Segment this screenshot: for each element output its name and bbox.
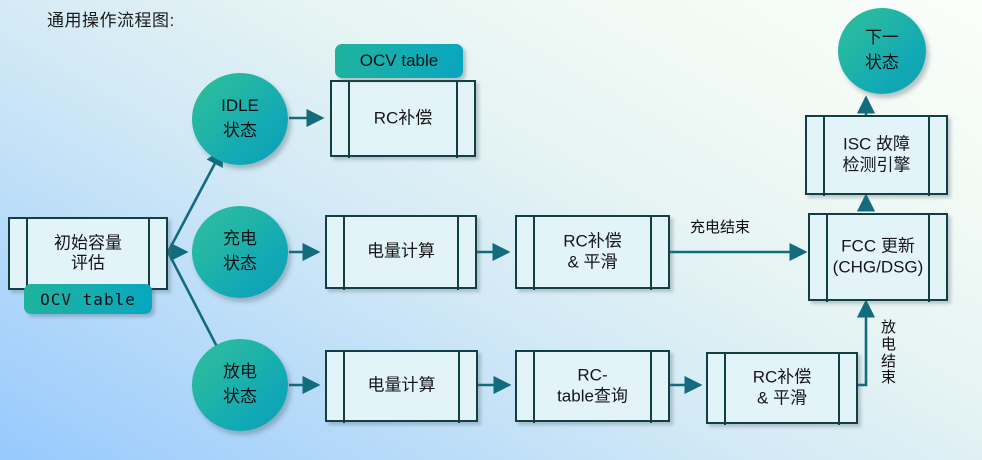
page-title: 通用操作流程图: — [47, 6, 175, 31]
node-initial-capacity-label: 初始容量 评估 — [30, 233, 146, 274]
badge-initial-ocv-table-label: OCV table — [40, 290, 136, 309]
node-idle-state[interactable]: IDLE 状态 — [192, 73, 288, 165]
node-charge-capacity-calc[interactable]: 电量计算 — [325, 215, 477, 289]
node-discharge-capacity-calc[interactable]: 电量计算 — [325, 350, 478, 422]
badge-idle-ocv-table[interactable]: OCV table — [335, 44, 463, 78]
node-charge-rc-smooth[interactable]: RC补偿 & 平滑 — [515, 215, 670, 289]
node-idle-rc-compensation-label: RC补偿 — [352, 108, 454, 129]
node-charge-state[interactable]: 充电 状态 — [192, 206, 288, 298]
node-discharge-rc-table-lookup[interactable]: RC- table查询 — [515, 350, 670, 422]
node-idle-rc-compensation[interactable]: RC补偿 — [330, 80, 476, 157]
flowchart-canvas: 通用操作流程图: — [0, 0, 982, 460]
node-next-state-label: 下一 状态 — [865, 26, 899, 75]
edge-label-charge-done: 充电结束 — [690, 216, 750, 237]
badge-initial-ocv-table[interactable]: OCV table — [24, 284, 152, 314]
node-fcc-update-label: FCC 更新 (CHG/DSG) — [830, 236, 926, 277]
edge-label-discharge-done: 放电结束 — [880, 320, 897, 387]
node-discharge-capacity-calc-label: 电量计算 — [347, 376, 456, 397]
node-discharge-state-label: 放电 状态 — [223, 360, 257, 409]
badge-idle-ocv-table-label: OCV table — [360, 51, 438, 71]
node-next-state[interactable]: 下一 状态 — [838, 8, 926, 94]
node-discharge-rc-smooth-label: RC补偿 & 平滑 — [728, 367, 836, 408]
node-discharge-state[interactable]: 放电 状态 — [192, 339, 288, 431]
node-charge-capacity-calc-label: 电量计算 — [347, 242, 455, 263]
node-charge-rc-smooth-label: RC补偿 & 平滑 — [537, 231, 648, 272]
edge-dsg-rc-to-fcc — [858, 302, 866, 385]
node-charge-state-label: 充电 状态 — [223, 227, 257, 276]
node-isc-fault-detection-engine-label: ISC 故障 检测引擎 — [827, 134, 926, 175]
node-initial-capacity[interactable]: 初始容量 评估 — [8, 217, 168, 290]
node-fcc-update[interactable]: FCC 更新 (CHG/DSG) — [808, 213, 948, 301]
node-discharge-rc-smooth[interactable]: RC补偿 & 平滑 — [706, 352, 858, 424]
node-discharge-rc-table-lookup-label: RC- table查询 — [537, 365, 648, 406]
node-idle-state-label: IDLE 状态 — [221, 94, 259, 143]
node-isc-fault-detection-engine[interactable]: ISC 故障 检测引擎 — [805, 115, 948, 195]
